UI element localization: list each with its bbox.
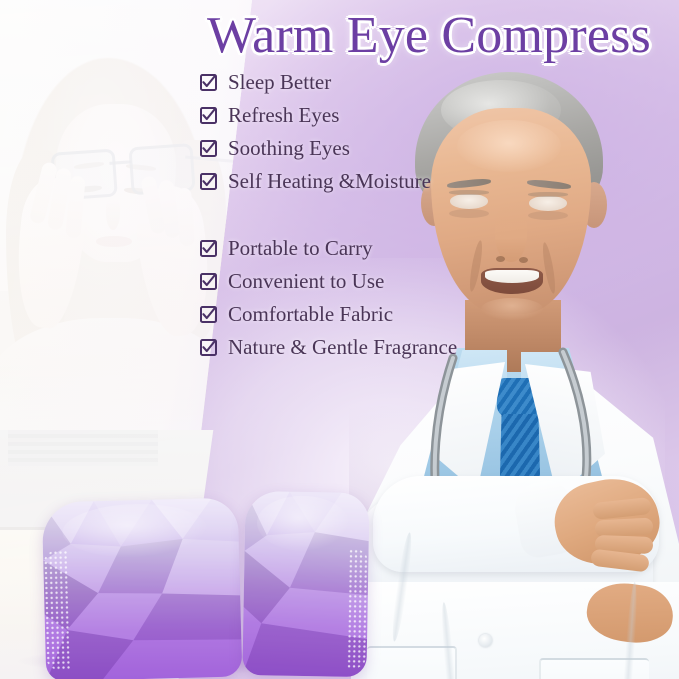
perforation-edge-left [43, 550, 70, 671]
doctor-eyelid-right [528, 192, 568, 197]
checkbox-checked-icon [200, 339, 217, 356]
woman-nose [106, 196, 120, 230]
checkbox-checked-icon [200, 107, 217, 124]
feature-item: Portable to Carry [200, 232, 530, 265]
feature-item: Refresh Eyes [200, 99, 530, 132]
feature-item: Self Heating &Moisture [200, 165, 530, 198]
checkbox-checked-icon [200, 74, 217, 91]
product-image [44, 486, 394, 679]
feature-label: Comfortable Fabric [228, 304, 393, 325]
woman-lips [96, 236, 132, 247]
doctor-coat-button [479, 634, 492, 647]
doctor-undereye-right [528, 211, 568, 220]
checkbox-checked-icon [200, 140, 217, 157]
feature-label: Portable to Carry [228, 238, 373, 259]
feature-item: Soothing Eyes [200, 132, 530, 165]
feature-label: Nature & Gentle Fragrance [228, 337, 457, 358]
window-blinds [8, 430, 158, 466]
checkbox-checked-icon [200, 273, 217, 290]
low-poly-facet-pattern [42, 497, 243, 679]
feature-item: Comfortable Fabric [200, 298, 530, 331]
feature-group-usability: Portable to Carry Convenient to Use [200, 232, 530, 364]
feature-item: Convenient to Use [200, 265, 530, 298]
perforation-edge-right [347, 549, 369, 669]
feature-list: Sleep Better Refresh Eyes [200, 66, 530, 364]
feature-label: Sleep Better [228, 72, 331, 93]
eye-compress-packet-left [42, 497, 243, 679]
checkbox-checked-icon [200, 240, 217, 257]
doctor-iris-right [541, 197, 554, 210]
product-poster: Warm Eye Compress Sleep Better [0, 0, 679, 679]
feature-label: Refresh Eyes [228, 105, 339, 126]
checkbox-checked-icon [200, 306, 217, 323]
doctor-eye-right [529, 196, 567, 211]
checkbox-checked-icon [200, 173, 217, 190]
eye-compress-packet-right [242, 491, 369, 677]
feature-group-benefits: Sleep Better Refresh Eyes [200, 66, 530, 198]
feature-label: Convenient to Use [228, 271, 384, 292]
feature-label: Soothing Eyes [228, 138, 350, 159]
feature-item: Nature & Gentle Fragrance [200, 331, 530, 364]
eyeglass-bridge [109, 160, 131, 165]
feature-item: Sleep Better [200, 66, 530, 99]
page-title: Warm Eye Compress [183, 8, 675, 64]
feature-label: Self Heating &Moisture [228, 171, 431, 192]
